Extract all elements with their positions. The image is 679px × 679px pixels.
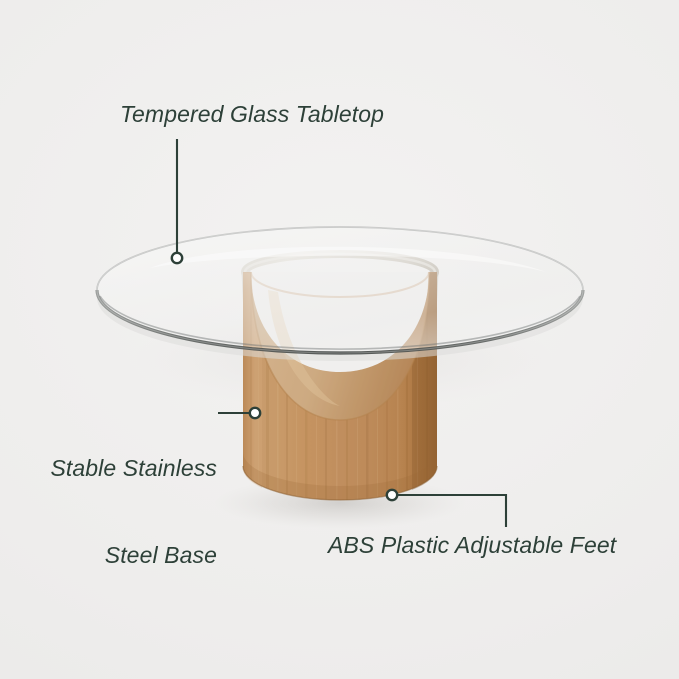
annotation-label-line-2: Steel Base: [12, 541, 217, 570]
product-diagram: Tempered Glass Tabletop Stable Stainless…: [0, 0, 679, 679]
annotation-label-stable-stainless-steel-base: Stable Stainless Steel Base: [12, 396, 217, 628]
marker-tempered-glass-tabletop: [172, 253, 182, 263]
leader-tempered-glass-tabletop: [172, 139, 182, 263]
annotation-label-abs-plastic-adjustable-feet: ABS Plastic Adjustable Feet: [328, 531, 616, 560]
marker-abs-plastic-adjustable-feet: [387, 490, 397, 500]
marker-stable-stainless-steel-base: [250, 408, 260, 418]
leader-abs-plastic-adjustable-feet: [387, 490, 506, 527]
annotation-label-tempered-glass-tabletop: Tempered Glass Tabletop: [120, 100, 384, 129]
leader-stable-stainless-steel-base: [218, 408, 260, 418]
annotation-label-line-1: Stable Stainless: [12, 454, 217, 483]
